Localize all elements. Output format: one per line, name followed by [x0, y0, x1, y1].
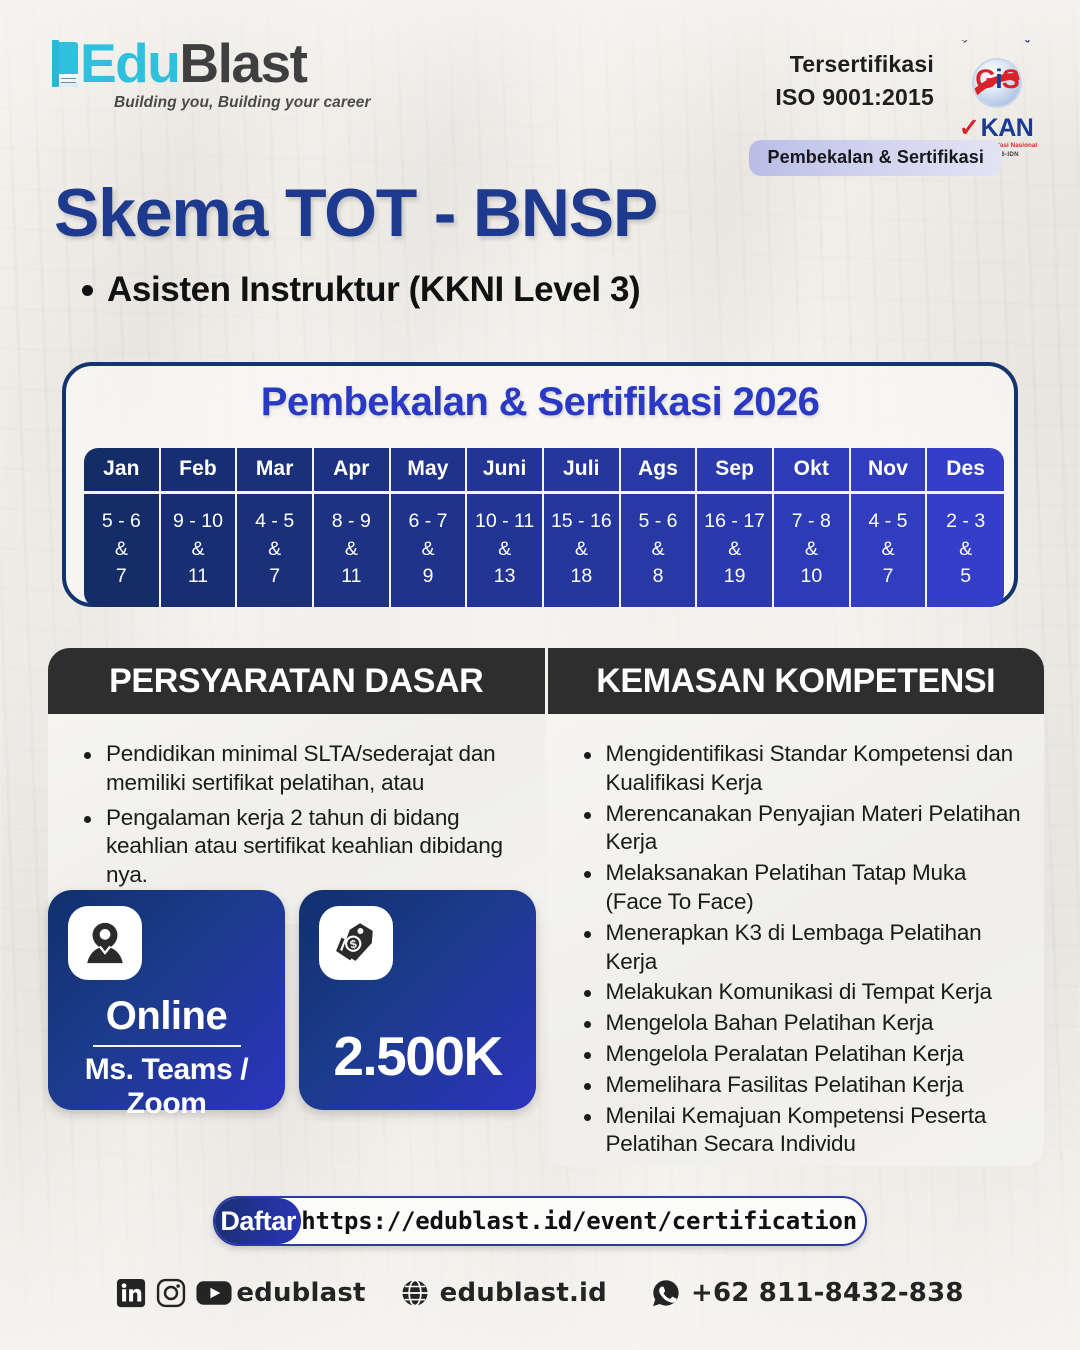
kan-main: ✓ KAN [948, 116, 1044, 141]
price-amount: 2.500K [315, 1024, 520, 1088]
price-box: $ 2.500K [299, 890, 536, 1110]
month-header: Ags [621, 448, 698, 491]
month-dates: 4 - 5&7 [851, 491, 928, 607]
exam-date: 11 [163, 563, 234, 591]
dates-separator: & [469, 536, 540, 564]
competency-item: Menilai Kemajuan Kompetensi Peserta Pela… [578, 1102, 1027, 1160]
month-dates: 10 - 11&13 [467, 491, 544, 607]
competency-item: Memelihara Fasilitas Pelatihan Kerja [578, 1071, 1027, 1100]
month-dates: 7 - 8&10 [774, 491, 851, 607]
month-header: Juni [467, 448, 544, 491]
page-subtitle-text: Asisten Instruktur (KKNI Level 3) [107, 270, 640, 310]
dates-separator: & [393, 536, 464, 564]
dates-separator: & [546, 536, 617, 564]
competency-item: Melaksanakan Pelatihan Tatap Muka (Face … [578, 859, 1027, 917]
register-bar[interactable]: Daftar https://edublast.id/event/certifi… [213, 1196, 867, 1246]
schedule-column: Ags5 - 6&8 [621, 448, 698, 607]
competency-item: Menerapkan K3 di Lembaga Pelatihan Kerja [578, 919, 1027, 977]
gis-letter-s: S [1002, 64, 1019, 94]
website-text: edublast.id [440, 1278, 607, 1308]
competency-item: Merencanakan Penyajian Materi Pelatihan … [578, 800, 1027, 858]
month-header: Mar [237, 448, 314, 491]
phone-number: +62 811-8432-838 [691, 1278, 964, 1308]
month-header: Des [927, 448, 1004, 491]
exam-date: 9 [393, 563, 464, 591]
month-header: Okt [774, 448, 851, 491]
month-dates: 6 - 7&9 [391, 491, 468, 607]
exam-date: 7 [86, 563, 157, 591]
mode-box: Online Ms. Teams / Zoom [48, 890, 285, 1110]
exam-date: 7 [853, 563, 924, 591]
competency-item: Mengelola Peralatan Pelatihan Kerja [578, 1040, 1027, 1069]
month-dates: 4 - 5&7 [237, 491, 314, 607]
status-badge: Pembekalan & Sertifikasi [749, 140, 1002, 176]
check-icon: ✓ [959, 116, 980, 141]
training-dates: 15 - 16 [546, 508, 617, 536]
exam-date: 18 [546, 563, 617, 591]
month-header: Jan [84, 448, 161, 491]
daftar-button[interactable]: Daftar [215, 1198, 301, 1244]
logo-edu-text: Edu [80, 36, 179, 91]
month-header: Feb [161, 448, 238, 491]
requirement-item: Pendidikan minimal SLTA/sederajat dan me… [78, 740, 527, 798]
schedule-column: May6 - 7&9 [391, 448, 468, 607]
training-dates: 5 - 6 [86, 508, 157, 536]
month-dates: 5 - 6&8 [621, 491, 698, 607]
gis-logo: SNI ISO 9001:2015 GiS [948, 40, 1044, 114]
mode-subtitle: Ms. Teams / Zoom [64, 1053, 269, 1120]
certification-text: Tersertifikasi ISO 9001:2015 [775, 40, 934, 115]
gis-letters: GiS [972, 66, 1022, 93]
competency-heading: KEMASAN KOMPETENSI [548, 648, 1045, 714]
dates-separator: & [699, 536, 770, 564]
certification-line-2: ISO 9001:2015 [775, 81, 934, 114]
poster-canvas: Edu Blast Building you, Building your ca… [0, 0, 1080, 1350]
schedule-title: Pembekalan & Sertifikasi 2026 [66, 380, 1014, 425]
mode-title: Online [64, 994, 269, 1039]
schedule-column: Des2 - 3&5 [927, 448, 1004, 607]
month-header: May [391, 448, 468, 491]
dates-separator: & [929, 536, 1002, 564]
training-dates: 9 - 10 [163, 508, 234, 536]
training-dates: 4 - 5 [239, 508, 310, 536]
schedule-column: Juli15 - 16&18 [544, 448, 621, 607]
exam-date: 10 [776, 563, 847, 591]
training-dates: 16 - 17 [699, 508, 770, 536]
dates-separator: & [623, 536, 694, 564]
schedule-column: Apr8 - 9&11 [314, 448, 391, 607]
training-dates: 7 - 8 [776, 508, 847, 536]
schedule-column: Mar4 - 5&7 [237, 448, 314, 607]
book-icon [52, 38, 78, 90]
highlight-boxes: Online Ms. Teams / Zoom $ 2.500K [48, 890, 536, 1110]
month-header: Sep [697, 448, 774, 491]
brand-tagline: Building you, Building your career [114, 94, 371, 112]
month-dates: 2 - 3&5 [927, 491, 1004, 607]
requirements-heading: PERSYARATAN DASAR [48, 648, 545, 714]
training-dates: 4 - 5 [853, 508, 924, 536]
dates-separator: & [853, 536, 924, 564]
logo-wordmark: Edu Blast [52, 36, 371, 91]
schedule-column: Feb9 - 10&11 [161, 448, 238, 607]
exam-date: 19 [699, 563, 770, 591]
location-pin-icon [68, 906, 142, 980]
whatsapp-icon[interactable] [651, 1278, 681, 1308]
price-tag-icon: $ [319, 906, 393, 980]
requirements-list: Pendidikan minimal SLTA/sederajat dan me… [78, 740, 527, 890]
price-tag-glyph: $ [333, 920, 379, 966]
footer: edublast edublast.id +62 811-8432-838 [0, 1278, 1080, 1308]
page-subtitle: Asisten Instruktur (KKNI Level 3) [82, 270, 640, 310]
linkedin-icon[interactable] [116, 1278, 146, 1308]
dates-separator: & [316, 536, 387, 564]
page-title: Skema TOT - BNSP [54, 178, 657, 249]
schedule-column: Sep16 - 17&19 [697, 448, 774, 607]
month-header: Nov [851, 448, 928, 491]
instagram-icon[interactable] [156, 1278, 186, 1308]
competency-list: Mengidentifikasi Standar Kompetensi dan … [578, 740, 1027, 1159]
schedule-table: Jan5 - 6&7Feb9 - 10&11Mar4 - 5&7Apr8 - 9… [84, 448, 1004, 607]
month-header: Apr [314, 448, 391, 491]
training-dates: 2 - 3 [929, 508, 1002, 536]
month-dates: 15 - 16&18 [544, 491, 621, 607]
exam-date: 13 [469, 563, 540, 591]
certification-line-1: Tersertifikasi [775, 48, 934, 81]
training-dates: 5 - 6 [623, 508, 694, 536]
logo-blast-text: Blast [179, 36, 306, 91]
globe-icon[interactable] [400, 1278, 430, 1308]
gis-letter-g: G [975, 64, 995, 94]
month-dates: 8 - 9&11 [314, 491, 391, 607]
bullet-icon [82, 285, 93, 296]
schedule-column: Jan5 - 6&7 [84, 448, 161, 607]
exam-date: 7 [239, 563, 310, 591]
kan-text: KAN [981, 116, 1034, 141]
location-pin-glyph [82, 920, 128, 966]
training-dates: 8 - 9 [316, 508, 387, 536]
training-dates: 6 - 7 [393, 508, 464, 536]
divider [93, 1045, 241, 1047]
youtube-icon[interactable] [196, 1278, 226, 1308]
dates-separator: & [776, 536, 847, 564]
schedule-column: Nov4 - 5&7 [851, 448, 928, 607]
register-url[interactable]: https://edublast.id/event/certification [301, 1207, 865, 1235]
exam-date: 5 [929, 563, 1002, 591]
svg-text:SNI ISO 9001:2015: SNI ISO 9001:2015 [959, 40, 1033, 45]
training-dates: 10 - 11 [469, 508, 540, 536]
requirement-item: Pengalaman kerja 2 tahun di bidang keahl… [78, 804, 527, 890]
exam-date: 8 [623, 563, 694, 591]
month-dates: 16 - 17&19 [697, 491, 774, 607]
exam-date: 11 [316, 563, 387, 591]
month-dates: 9 - 10&11 [161, 491, 238, 607]
schedule-column: Juni10 - 11&13 [467, 448, 544, 607]
schedule-panel: Pembekalan & Sertifikasi 2026 Jan5 - 6&7… [62, 362, 1018, 607]
competency-card: KEMASAN KOMPETENSI Mengidentifikasi Stan… [548, 648, 1045, 1166]
competency-item: Mengidentifikasi Standar Kompetensi dan … [578, 740, 1027, 798]
competency-item: Melakukan Komunikasi di Tempat Kerja [578, 978, 1027, 1007]
header: Edu Blast Building you, Building your ca… [0, 0, 1080, 180]
month-header: Juli [544, 448, 621, 491]
competency-item: Mengelola Bahan Pelatihan Kerja [578, 1009, 1027, 1038]
dates-separator: & [239, 536, 310, 564]
dates-separator: & [163, 536, 234, 564]
month-dates: 5 - 6&7 [84, 491, 161, 607]
social-handle: edublast [236, 1278, 365, 1308]
dates-separator: & [86, 536, 157, 564]
competency-body: Mengidentifikasi Standar Kompetensi dan … [548, 714, 1045, 1166]
brand-logo[interactable]: Edu Blast Building you, Building your ca… [52, 36, 371, 112]
schedule-column: Okt7 - 8&10 [774, 448, 851, 607]
